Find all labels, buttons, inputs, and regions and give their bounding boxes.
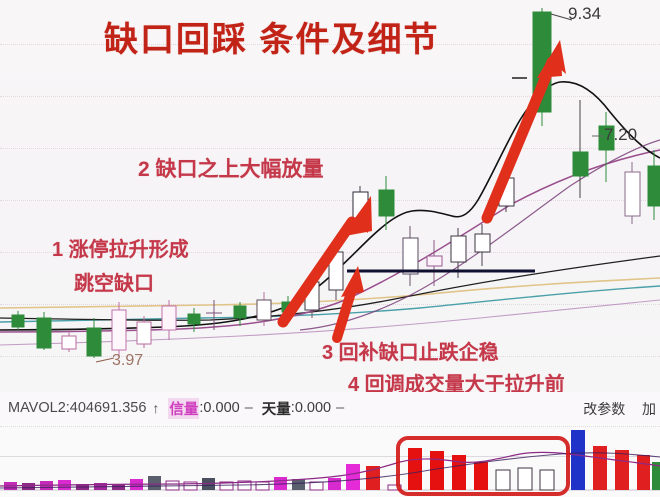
trend-up-icon: ↑ <box>152 400 159 416</box>
indicator-status-bar: MAVOL2:404691.356 ↑ 信量 :0.000 – 天量 :0.00… <box>0 392 660 424</box>
xinliang-value: :0.000 <box>199 400 239 416</box>
volume-bar <box>256 482 269 490</box>
page-title: 缺口回踩 条件及细节 <box>104 12 439 61</box>
mavol2-readout: MAVOL2:404691.356 <box>8 400 146 416</box>
volume-bar <box>637 455 650 490</box>
volume-bar <box>408 448 422 490</box>
price-chart-pane[interactable]: 缺口回踩 条件及细节 2 缺口之上大幅放量 1 涨停拉升形成 跳空缺口 3 回补… <box>0 0 660 392</box>
price-label-low: 3.97 <box>112 352 143 370</box>
stock-chart-screenshot: 缺口回踩 条件及细节 2 缺口之上大幅放量 1 涨停拉升形成 跳空缺口 3 回补… <box>0 0 660 497</box>
volume-bar <box>474 462 488 490</box>
volume-series-layer <box>0 424 660 497</box>
volume-bar <box>346 464 360 490</box>
price-label-mid: 7.20 <box>604 125 637 145</box>
annotation-4: 4 回调成交量大于拉升前 <box>348 368 565 392</box>
volume-bar <box>496 470 510 490</box>
volume-bar <box>430 451 444 490</box>
annotation-1-line2: 跳空缺口 <box>74 267 154 296</box>
status-dash-2: – <box>336 400 344 416</box>
status-right-controls[interactable]: 改参数 加 <box>583 399 656 419</box>
annotation-1-line1: 1 涨停拉升形成 <box>52 233 189 262</box>
volume-bar <box>571 430 585 490</box>
price-label-high: 9.34 <box>568 4 601 24</box>
volume-bar <box>518 468 532 490</box>
volume-bar <box>615 450 629 490</box>
volume-bar <box>22 483 35 490</box>
volume-bar <box>452 455 466 490</box>
volume-bar <box>540 470 554 490</box>
annotation-3: 3 回补缺口止跌企稳 <box>322 336 499 365</box>
annotation-2: 2 缺口之上大幅放量 <box>138 153 324 183</box>
volume-bar <box>328 478 341 490</box>
volume-bar <box>148 476 161 490</box>
volume-chart-pane[interactable] <box>0 424 660 497</box>
xinliang-label: 信量 <box>168 398 199 419</box>
tianliang-label: 天量 <box>262 398 291 419</box>
change-params-button[interactable]: 改参数 <box>583 401 625 417</box>
status-dash-1: – <box>245 400 253 416</box>
volume-bar <box>292 479 305 490</box>
tianliang-value: :0.000 <box>291 400 331 416</box>
add-button[interactable]: 加 <box>642 401 656 417</box>
